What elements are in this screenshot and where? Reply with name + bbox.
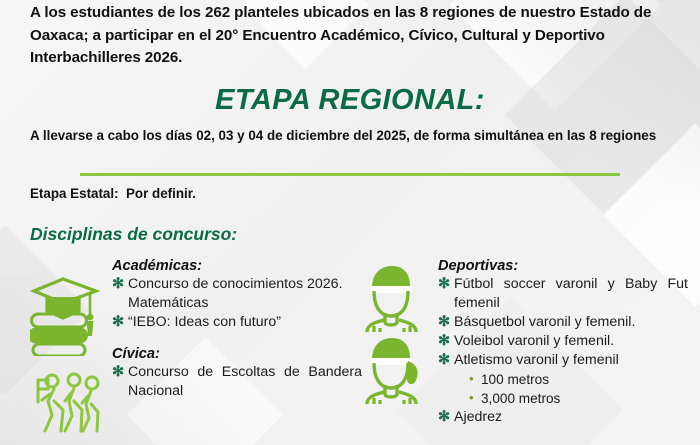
flag-escort-icon (30, 370, 108, 445)
category-heading-civica: Cívica: (112, 346, 362, 362)
civica-block: Cívica: ✻ Concurso de Escoltas de Bander… (112, 346, 362, 401)
list-item: ✻ Atletismo varonil y femenil • 100 metr… (438, 351, 688, 408)
asterisk-bullet-icon: ✻ (112, 363, 124, 382)
stage-dates-text: A llevarse a cabo los días 02, 03 y 04 d… (30, 126, 680, 146)
category-heading-academicas: Académicas: (112, 258, 362, 274)
poster-body: A los estudiantes de los 262 planteles u… (0, 0, 700, 445)
list-item: ✻ Concurso de Escoltas de Bandera Nacion… (112, 363, 362, 401)
atletismo-sublist: • 100 metros • 3,000 metros (468, 370, 688, 408)
list-item-label: Atletismo varonil y femenil (454, 352, 619, 368)
female-athlete-icon (358, 334, 426, 409)
horizontal-divider (80, 173, 620, 176)
list-item: ✻ Fútbol soccer varonil y Baby Fut femen… (438, 275, 688, 313)
intro-paragraph: A los estudiantes de los 262 planteles u… (30, 2, 675, 70)
list-item: ✻ Ajedrez (438, 408, 688, 427)
asterisk-bullet-icon: ✻ (438, 332, 450, 351)
list-item: ✻ Básquetbol varonil y femenil. (438, 313, 688, 332)
page-title: ETAPA REGIONAL: (0, 84, 700, 117)
asterisk-bullet-icon: ✻ (112, 313, 124, 332)
list-item: ✻ Concurso de conocimientos 2026. Matemá… (112, 275, 362, 313)
category-heading-deportivas: Deportivas: (438, 258, 688, 274)
list-item: ✻ “IEBO: Ideas con futuro” (112, 313, 362, 332)
sub-list-item: • 100 metros (468, 370, 688, 389)
dot-bullet-icon: • (469, 388, 474, 407)
male-athlete-icon (358, 262, 426, 337)
list-item-label: Concurso de Escoltas de Bandera Nacional (128, 364, 362, 399)
list-item-label: Ajedrez (454, 409, 502, 425)
sub-list-item-label: 3,000 metros (481, 391, 560, 406)
dot-bullet-icon: • (469, 369, 474, 388)
deportivas-list: ✻ Fútbol soccer varonil y Baby Fut femen… (438, 275, 688, 427)
deportivas-block: Deportivas: ✻ Fútbol soccer varonil y Ba… (438, 258, 688, 427)
asterisk-bullet-icon: ✻ (438, 408, 450, 427)
academicas-list: ✻ Concurso de conocimientos 2026. Matemá… (112, 275, 362, 332)
state-stage-text: Etapa Estatal: Por definir. (30, 186, 196, 201)
graduation-cap-books-icon (30, 270, 104, 361)
asterisk-bullet-icon: ✻ (438, 351, 450, 370)
asterisk-bullet-icon: ✻ (438, 313, 450, 332)
list-item-label: Concurso de conocimientos 2026. Matemáti… (128, 276, 343, 311)
sub-list-item: • 3,000 metros (468, 389, 688, 408)
list-item-label: Fútbol soccer varonil y Baby Fut femenil (454, 276, 688, 311)
asterisk-bullet-icon: ✻ (438, 275, 450, 294)
list-item: ✻ Voleibol varonil y femenil. (438, 332, 688, 351)
list-item-label: “IEBO: Ideas con futuro” (128, 314, 281, 330)
civica-list: ✻ Concurso de Escoltas de Bandera Nacion… (112, 363, 362, 401)
sub-list-item-label: 100 metros (481, 372, 549, 387)
academicas-block: Académicas: ✻ Concurso de conocimientos … (112, 258, 362, 332)
section-title-disciplines: Disciplinas de concurso: (30, 224, 237, 245)
asterisk-bullet-icon: ✻ (112, 275, 124, 294)
list-item-label: Básquetbol varonil y femenil. (454, 314, 635, 330)
list-item-label: Voleibol varonil y femenil. (454, 333, 614, 349)
